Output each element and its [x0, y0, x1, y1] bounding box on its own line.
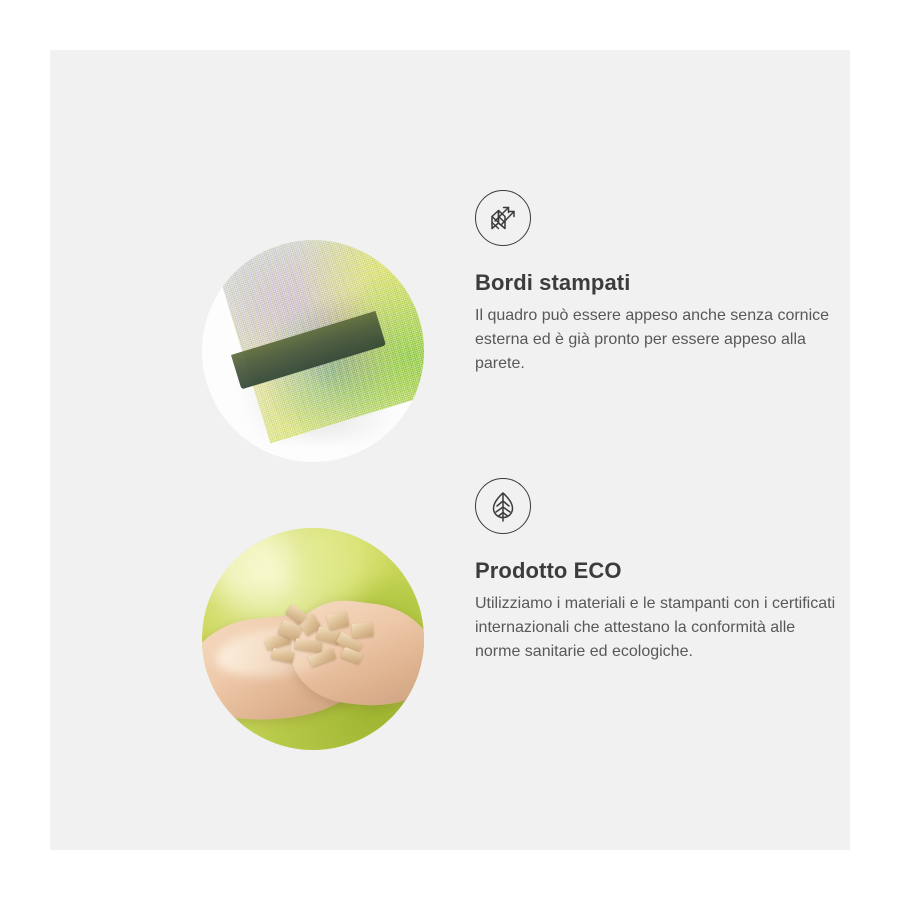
leaf-icon	[475, 478, 531, 534]
canvas-print-corner-photo	[202, 240, 424, 462]
hands-holding-wood-chips-photo	[202, 528, 424, 750]
printed-edges-glyph	[486, 201, 520, 235]
wood-chip	[294, 638, 323, 653]
content-panel: Bordi stampati Il quadro può essere appe…	[50, 50, 850, 850]
wood-chip	[271, 648, 295, 663]
feature-copy-printed-edges: Bordi stampati Il quadro può essere appe…	[475, 190, 850, 375]
printed-edges-icon	[475, 190, 531, 246]
product-feature-infographic: Bordi stampati Il quadro può essere appe…	[0, 0, 900, 900]
canvas-photo-background	[202, 240, 424, 462]
wood-chip	[327, 611, 350, 630]
feature-copy-eco-product: Prodotto ECO Utilizziamo i materiali e l…	[475, 478, 850, 663]
wood-chip	[351, 622, 374, 638]
eco-photo-background	[202, 528, 424, 750]
feature-title: Prodotto ECO	[475, 558, 850, 584]
wood-chips-pile	[260, 603, 384, 678]
feature-title: Bordi stampati	[475, 270, 850, 296]
feature-description: Il quadro può essere appeso anche senza …	[475, 304, 840, 375]
leaf-glyph	[486, 489, 520, 523]
feature-description: Utilizziamo i materiali e le stampanti c…	[475, 592, 840, 663]
